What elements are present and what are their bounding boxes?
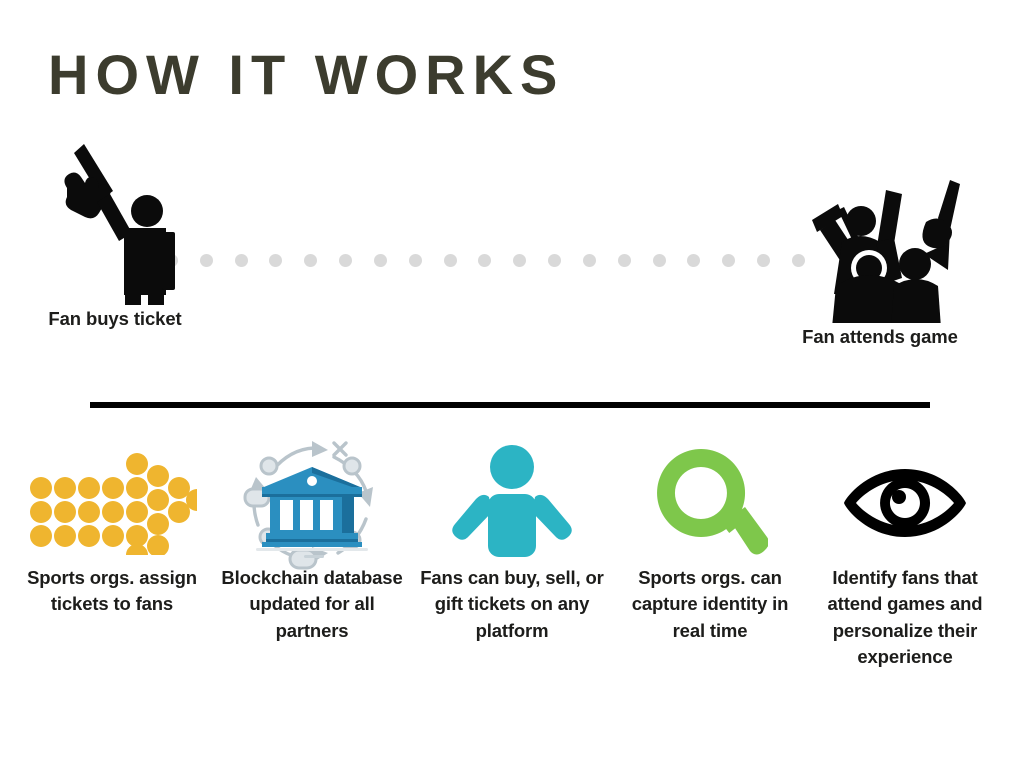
feature-blockchain-database: Blockchain database updated for all part… (212, 440, 412, 644)
journey-dot (235, 254, 248, 267)
journey-dot (478, 254, 491, 267)
feature-buy-sell-gift: Fans can buy, sell, or gift tickets on a… (412, 440, 612, 644)
journey-dot (304, 254, 317, 267)
section-divider (90, 402, 930, 408)
dotted-arrow-icon (12, 440, 212, 565)
feature-identify-fans: Identify fans that attend games and pers… (805, 440, 1005, 670)
journey-step-fan-buys-ticket: Fan buys ticket (0, 140, 230, 330)
bank-network-icon (212, 440, 412, 565)
feature-label: Blockchain database updated for all part… (212, 565, 412, 644)
journey-dot (583, 254, 596, 267)
cheering-crowd-icon (765, 158, 995, 323)
feature-label: Sports orgs. can capture identity in rea… (610, 565, 810, 644)
journey-step-label: Fan attends game (765, 326, 995, 348)
journey-step-label: Fan buys ticket (0, 308, 230, 330)
feature-label: Fans can buy, sell, or gift tickets on a… (412, 565, 612, 644)
features-row: Sports orgs. assign tickets to fans (0, 440, 1024, 720)
page-title: HOW IT WORKS (48, 47, 564, 103)
eye-icon (805, 440, 1005, 565)
journey-dot (653, 254, 666, 267)
journey-dot (513, 254, 526, 267)
feature-label: Identify fans that attend games and pers… (805, 565, 1005, 670)
journey-dot (444, 254, 457, 267)
journey-row: Fan buys ticket (0, 140, 1024, 355)
journey-dot (618, 254, 631, 267)
journey-step-fan-attends-game: Fan attends game (765, 140, 995, 348)
journey-dot (687, 254, 700, 267)
journey-dot (374, 254, 387, 267)
fan-with-foam-finger-icon (0, 140, 230, 305)
feature-label: Sports orgs. assign tickets to fans (12, 565, 212, 618)
journey-dot (722, 254, 735, 267)
feature-capture-identity: Sports orgs. can capture identity in rea… (610, 440, 810, 644)
journey-dot (269, 254, 282, 267)
journey-dot (409, 254, 422, 267)
person-icon (412, 440, 612, 565)
journey-dot (339, 254, 352, 267)
feature-sports-orgs-assign: Sports orgs. assign tickets to fans (12, 440, 212, 618)
magnifying-glass-icon (610, 440, 810, 565)
dotted-line-icon (165, 252, 805, 268)
journey-dot (548, 254, 561, 267)
